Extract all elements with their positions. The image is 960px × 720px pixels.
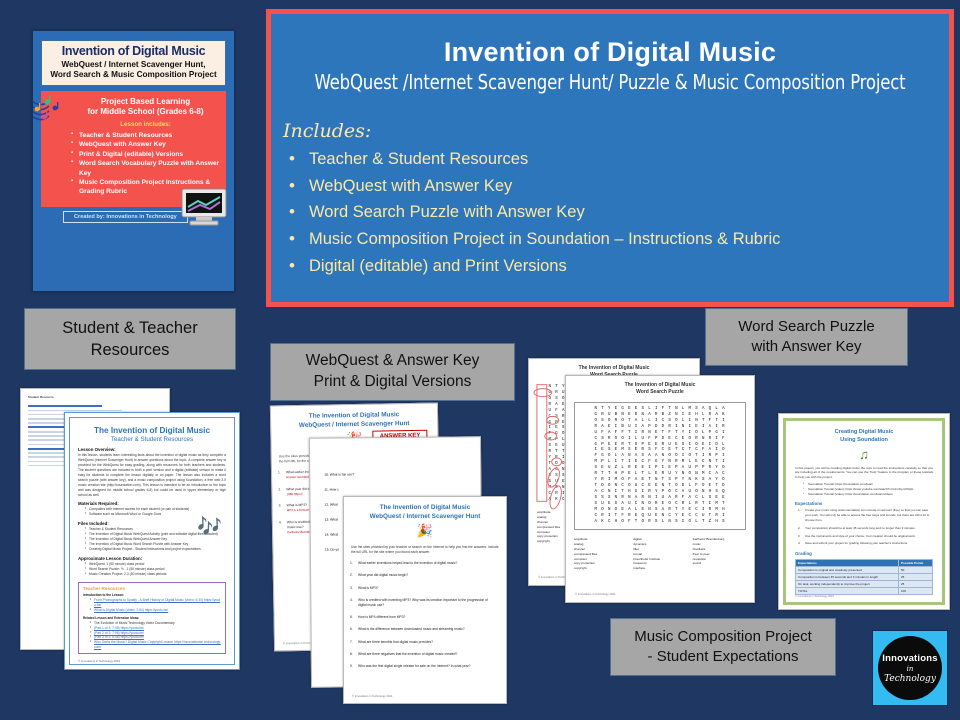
list-item: Digital (editable) and Print Versions	[283, 253, 949, 280]
label-music-composition-project: Music Composition Project - Student Expe…	[610, 618, 836, 676]
grading-rubric-table: Expectations Possible Points Composition…	[795, 559, 933, 595]
list-item: Use the instruments and style of your ch…	[805, 534, 933, 539]
label-line-2: - Student Expectations	[611, 647, 835, 667]
cover-red-panel: Project Based Learning for Middle School…	[41, 91, 226, 207]
list-item: Creating Digital Music Project - Student…	[85, 547, 226, 552]
duration-list: WebQuest: 1 (50 minute) class period Wor…	[85, 562, 226, 577]
list-item: 11. How c	[324, 486, 470, 491]
grading-heading: Grading	[795, 551, 933, 556]
list-item: Who is credited with inventing MP3? Why …	[358, 598, 496, 608]
doc-title-line2: WebQuest / Internet Scavenger Hunt	[344, 513, 506, 522]
table-row: Composition is original and creatively p…	[796, 567, 933, 574]
tutorial-list: Soundation Tutorial: https://soundation.…	[803, 482, 933, 496]
banner-includes-label: Includes:	[283, 120, 949, 142]
list-item: sound	[693, 561, 746, 566]
cover-thumbnail[interactable]: Invention of Digital Music WebQuest / In…	[32, 30, 235, 292]
doc-footer: © Innovations in Technology 2024	[575, 593, 615, 596]
list-item[interactable]: Who Owns the Music? Digital Music Copyri…	[90, 640, 221, 650]
list-item: Music Composition Project in Soundation …	[283, 226, 949, 253]
banner-subtitle: WebQuest /Internet Scavenger Hunt/ Puzzl…	[298, 70, 922, 94]
music-note-icon: 🎶	[197, 514, 222, 539]
list-item: What are three benefits that digital mus…	[358, 640, 496, 645]
music-note-icon: ♫	[795, 447, 933, 462]
doc-footer: © Innovations in Technology 2024	[352, 695, 392, 698]
list-item: Who was the first digital single release…	[358, 664, 496, 669]
list-item: Teacher & Student Resources	[71, 131, 220, 140]
label-student-teacher-resources: Student & Teacher Resources	[24, 308, 236, 370]
list-item: Word Search Puzzle with Answer Key	[283, 199, 949, 226]
resources-page-front[interactable]: The Invention of Digital Music Teacher &…	[64, 412, 240, 670]
cell-expectation: TOTAL	[796, 588, 899, 595]
materials-heading: Materials Required:	[78, 501, 226, 506]
cover-credit: Created by: Innovations in Technology	[63, 211, 188, 223]
label-line-1: Music Composition Project	[611, 627, 835, 647]
list-item: Print & Digital (editable) Versions	[71, 150, 220, 159]
list-item: What earlier inventions helped lead to t…	[358, 561, 496, 566]
doc-title-line1: The Invention of Digital Music	[566, 382, 754, 389]
cell-points: 100	[899, 588, 933, 595]
cover-inner: Invention of Digital Music WebQuest / In…	[41, 40, 226, 207]
table-header-row: Expectations Possible Points	[796, 560, 933, 567]
logo-line-3: Technology	[884, 674, 936, 684]
word-search-grid: N T Y E G E E S L I F T N L M S A Q L AG…	[574, 402, 746, 530]
cover-lesson-includes-label: Lesson includes:	[71, 121, 220, 128]
list-item: interface	[633, 566, 686, 571]
table-row: On task, working independently to improv…	[796, 581, 933, 588]
label-line-2: Resources	[25, 339, 235, 361]
vocabulary-word-list: amplitude analog channel compressed file…	[574, 537, 746, 570]
list-item: Your composition should be at least 45 s…	[805, 526, 933, 531]
soundation-project-page[interactable]: Creating Digital Music Using Soundation …	[778, 413, 950, 610]
banner-includes-list: Teacher & Student Resources WebQuest wit…	[283, 146, 949, 280]
related-heading: Related Lesson and Extension Ideas:	[83, 616, 221, 620]
list-item: What year did digital music begin?	[358, 573, 496, 578]
logo-circle: Innovations in Technology	[878, 636, 942, 700]
list-item: WebQuest with Answer Key	[283, 173, 949, 200]
list-item: Save and submit your project for grading…	[805, 541, 933, 546]
doc-footer: © Innovations in Technology 2024	[795, 595, 834, 598]
column-header: Possible Points	[899, 560, 933, 567]
banner-title: Invention of Digital Music	[271, 37, 949, 68]
word-column-2: digital dynamics filter format Fraunhofe…	[633, 537, 686, 570]
overview-heading: Lesson Overview:	[78, 447, 226, 452]
related-list: The Evolution of Music Technology Video …	[90, 621, 221, 651]
doc-title-line1: The Invention of Digital Music	[529, 365, 699, 372]
doc-title: The Invention of Digital Music	[78, 426, 226, 435]
cover-title-sub-line1: WebQuest / Internet Scavenger Hunt,	[45, 60, 222, 70]
doc-title-line2: Word Search Puzzle	[566, 389, 754, 396]
intro-text: In this project, you will be creating di…	[795, 466, 933, 480]
cover-pbl-line2: for Middle School (Grades 6-8)	[71, 107, 220, 117]
doc-title-line1: Creating Digital Music	[795, 429, 933, 437]
cover-title-main: Invention of Digital Music	[45, 45, 222, 58]
cell-expectation: Composition is between 45 seconds and 3 …	[796, 574, 899, 581]
doc-footer: © Innovations in Technology 2024	[78, 659, 226, 663]
logo-line-1: Innovations	[882, 653, 938, 664]
party-popper-icon: 🎉	[344, 523, 506, 539]
cover-title-box: Invention of Digital Music WebQuest / In…	[41, 40, 226, 86]
label-webquest-answer-key: WebQuest & Answer Key Print & Digital Ve…	[270, 343, 515, 401]
cell-points: 50	[899, 567, 933, 574]
computer-monitor-icon	[180, 187, 228, 227]
instructions: Use the sites provided by your teacher o…	[351, 545, 499, 555]
list-item: Music Creation Project: 2-3 (50 minute) …	[85, 572, 226, 577]
list-item: What is MP3?	[358, 586, 496, 591]
word-column-1: amplitude analog channel compressed file…	[574, 537, 627, 570]
innovations-in-technology-logo[interactable]: Innovations in Technology	[872, 630, 948, 706]
cell-points: 25	[899, 581, 933, 588]
webquest-student-page[interactable]: The Invention of Digital Music WebQuest …	[343, 496, 507, 704]
label-line-1: WebQuest & Answer Key	[271, 351, 514, 372]
duration-heading: Approximate Lesson Duration:	[78, 556, 226, 561]
list-item: 10. What is fair use?	[324, 471, 470, 476]
logo-line-2: in	[907, 665, 914, 673]
doc-subtitle: Teacher & Student Resources	[78, 436, 226, 443]
cell-expectation: On task, working independently to improv…	[796, 581, 899, 588]
doc-title-line2: Using Soundation	[795, 437, 933, 445]
list-item: Word Search Vocabulary Puzzle with Answe…	[71, 159, 220, 178]
label-line-1: Student & Teacher	[25, 317, 235, 339]
label-line-1: Word Search Puzzle	[706, 317, 907, 337]
list-item[interactable]: Soundation Tutorial (video): https://sou…	[803, 492, 933, 497]
teacher-resources-heading: Teacher Resources	[83, 586, 221, 591]
music-notes-icon	[32, 93, 69, 139]
expectations-list: Create your music using www.soundation.c…	[805, 508, 933, 546]
cover-pbl-line1: Project Based Learning	[71, 97, 220, 107]
list-item: Create your music using www.soundation.c…	[805, 508, 933, 522]
word-column-3: Karlheinz Brandenburg music Oscillator P…	[693, 537, 746, 570]
list-item: How is MP4 different from MP3?	[358, 615, 496, 620]
label-word-search-puzzle: Word Search Puzzle with Answer Key	[705, 308, 908, 366]
list-item: Teacher & Student Resources	[283, 146, 949, 173]
list-item: What are three negatives that the invent…	[358, 652, 496, 657]
label-line-2: with Answer Key	[706, 337, 907, 357]
list-item: What is the difference between downloade…	[358, 627, 496, 632]
list-item[interactable]: From Phonographs to Spotify - A Brief Hi…	[90, 598, 221, 608]
overview-text: In this lesson, students learn interesti…	[78, 453, 226, 497]
main-banner: Invention of Digital Music WebQuest /Int…	[266, 9, 954, 307]
list-item[interactable]: What is Digital Music (video: 2:54) http…	[90, 608, 221, 613]
table-row: Composition is between 45 seconds and 3 …	[796, 574, 933, 581]
cell-points: 25	[899, 574, 933, 581]
list-item: copyright	[574, 566, 627, 571]
doc-title-line1: The Invention of Digital Music	[344, 504, 506, 513]
label-line-2: Print & Digital Versions	[271, 372, 514, 393]
intro-list: From Phonographs to Spotify - A Brief Hi…	[90, 598, 221, 613]
expectations-heading: Expectations	[795, 501, 933, 506]
list-item: WebQuest with Answer Key	[71, 140, 220, 149]
word-search-puzzle-page[interactable]: The Invention of Digital Music Word Sear…	[565, 375, 755, 603]
question-list: What earlier inventions helped lead to t…	[358, 561, 496, 669]
cover-title-sub-line2: Word Search & Music Composition Project	[45, 70, 222, 80]
column-header: Expectations	[796, 560, 899, 567]
table-row: TOTAL 100	[796, 588, 933, 595]
teacher-resources-box: Teacher Resources Introduction to the Le…	[78, 582, 226, 654]
intro-heading: Introduction to the Lesson:	[83, 593, 221, 597]
cell-expectation: Composition is original and creatively p…	[796, 567, 899, 574]
